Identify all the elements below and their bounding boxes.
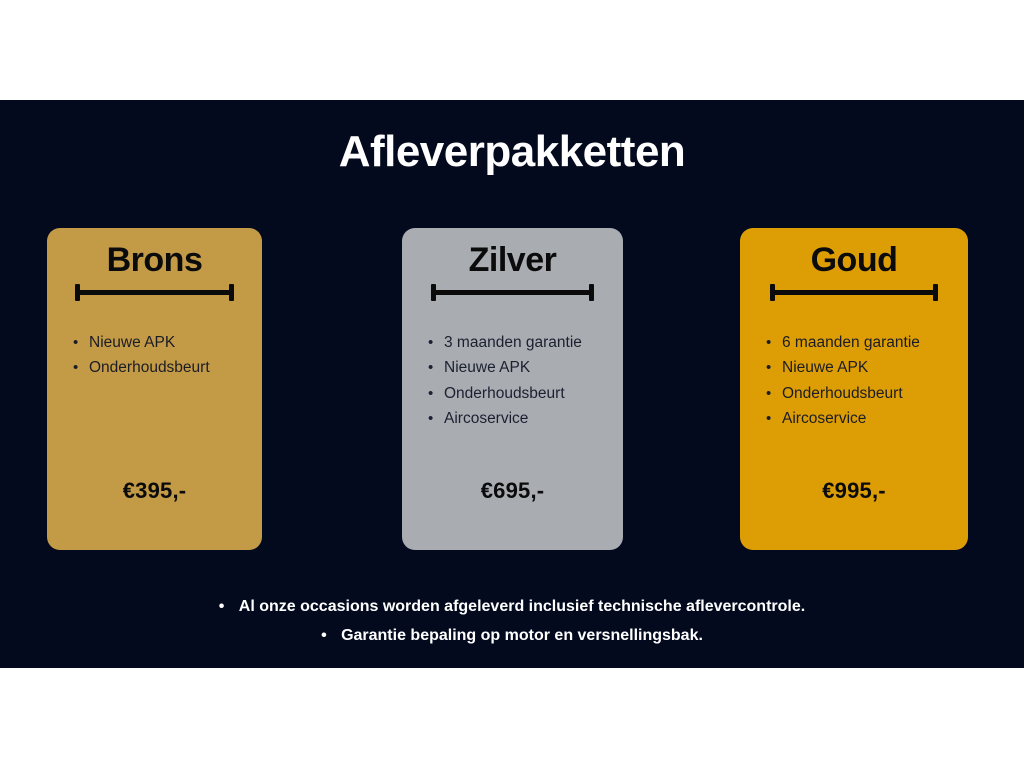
package-title-zilver: Zilver bbox=[402, 242, 623, 279]
feature-item: Aircoservice bbox=[766, 406, 958, 432]
feature-list-zilver: 3 maanden garantie Nieuwe APK Onderhouds… bbox=[402, 330, 623, 432]
footer-note-text: Garantie bepaling op motor en versnellin… bbox=[321, 621, 703, 650]
footer-notes: Al onze occasions worden afgeleverd incl… bbox=[0, 592, 1024, 650]
page-title: Afleverpakketten bbox=[0, 128, 1024, 176]
package-title-brons: Brons bbox=[47, 242, 262, 279]
feature-list-goud: 6 maanden garantie Nieuwe APK Onderhouds… bbox=[740, 330, 968, 432]
package-cards-row: Brons Nieuwe APK Onderhoudsbeurt €395,- … bbox=[47, 228, 968, 550]
feature-item: Nieuwe APK bbox=[766, 355, 958, 381]
footer-note-line: Al onze occasions worden afgeleverd incl… bbox=[0, 592, 1024, 621]
feature-item: Onderhoudsbeurt bbox=[73, 355, 252, 381]
dimension-line-divider-icon bbox=[75, 284, 234, 300]
footer-note-text: Al onze occasions worden afgeleverd incl… bbox=[219, 592, 805, 621]
feature-item: Aircoservice bbox=[428, 406, 613, 432]
feature-item: Onderhoudsbeurt bbox=[428, 381, 613, 407]
package-card-zilver[interactable]: Zilver 3 maanden garantie Nieuwe APK Ond… bbox=[402, 228, 623, 550]
feature-item: 6 maanden garantie bbox=[766, 330, 958, 356]
package-title-goud: Goud bbox=[740, 242, 968, 279]
footer-note-line: Garantie bepaling op motor en versnellin… bbox=[0, 621, 1024, 650]
package-card-brons[interactable]: Brons Nieuwe APK Onderhoudsbeurt €395,- bbox=[47, 228, 262, 550]
feature-list-brons: Nieuwe APK Onderhoudsbeurt bbox=[47, 330, 262, 381]
dimension-line-divider-icon bbox=[431, 284, 595, 300]
package-price-goud: €995,- bbox=[740, 478, 968, 504]
feature-item: Onderhoudsbeurt bbox=[766, 381, 958, 407]
package-price-zilver: €695,- bbox=[402, 478, 623, 504]
feature-item: Nieuwe APK bbox=[73, 330, 252, 356]
package-card-goud[interactable]: Goud 6 maanden garantie Nieuwe APK Onder… bbox=[740, 228, 968, 550]
feature-item: Nieuwe APK bbox=[428, 355, 613, 381]
feature-item: 3 maanden garantie bbox=[428, 330, 613, 356]
slide-canvas: Afleverpakketten Brons Nieuwe APK Onderh… bbox=[0, 0, 1024, 768]
package-price-brons: €395,- bbox=[47, 478, 262, 504]
dimension-line-divider-icon bbox=[770, 284, 939, 300]
